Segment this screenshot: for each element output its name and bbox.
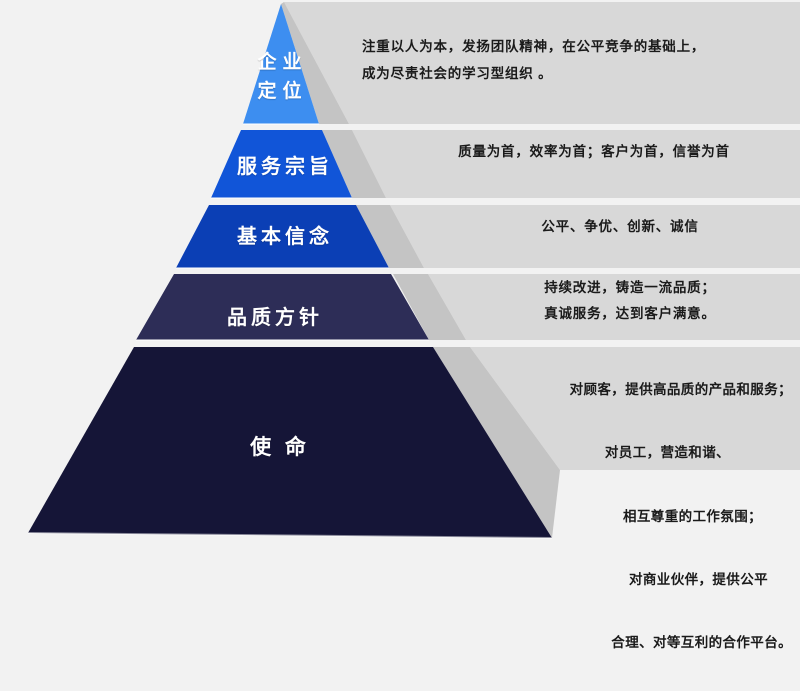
callout-panel-1 [352,130,800,198]
mission-line-5: 合理、对等互利的合作平台。 [520,627,792,659]
pyramid-tier-2 [176,205,389,268]
callout-panel-3 [428,274,800,340]
pyramid-graphic [0,0,800,555]
pyramid-diagram: 企业 定位 服务宗旨 基本信念 品质方针 使 命 注重以人为本，发扬团队精神，在… [0,0,800,555]
callout-panel-0 [284,2,800,124]
mission-line-4: 对商业伙伴，提供公平 [520,564,768,596]
pyramid-tier-3 [136,274,429,340]
callout-panel-2 [390,205,800,268]
